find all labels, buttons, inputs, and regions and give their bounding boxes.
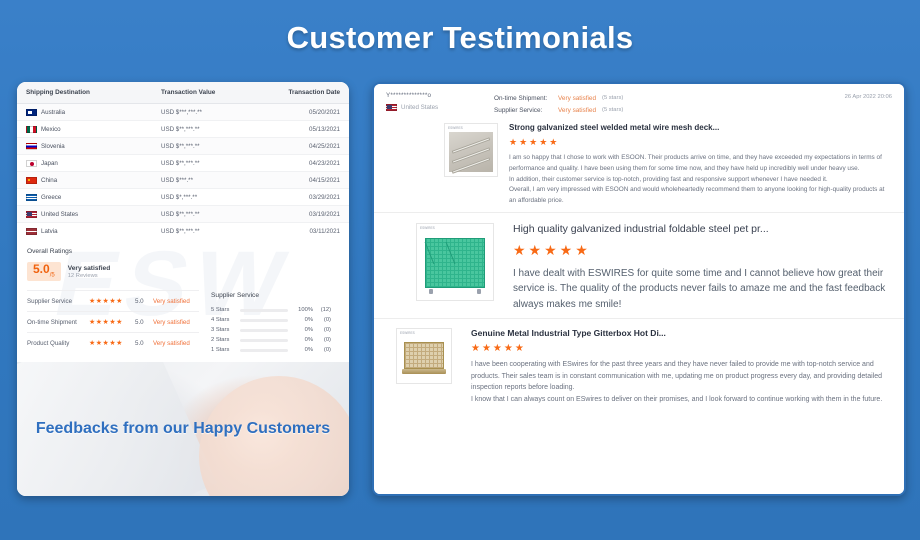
flag-united-states-icon <box>26 211 37 218</box>
review-body: ESWIRES Strong galvanized steel welded m… <box>386 123 892 206</box>
breakdown-count: (0) <box>313 317 331 323</box>
breakdown-percent: 0% <box>293 347 313 353</box>
breakdown-row[interactable]: 5 Stars 100% (12) <box>211 305 331 315</box>
rating-metric-row: Product Quality ★★★★★ 5.0 Very satisfied <box>27 332 199 353</box>
cell-date: 03/19/2021 <box>279 211 340 218</box>
review-stars-icon: ★★★★★ <box>471 343 892 354</box>
table-row[interactable]: China USD $***.** 04/15/2021 <box>17 172 349 189</box>
overall-score-suffix: /5 <box>50 272 55 278</box>
metric-label: Very satisfied <box>153 298 190 305</box>
column-header-destination: Shipping Destination <box>26 89 161 96</box>
cell-destination: United States <box>41 211 78 218</box>
cell-value: USD $***.** <box>161 177 279 184</box>
reviews-panel: Y**************o United States On-time S… <box>372 82 906 496</box>
cell-value: USD $**,***.** <box>161 211 279 218</box>
metric-name: On-time Shipment <box>27 319 89 326</box>
cell-value: USD $**,***.** <box>161 126 279 133</box>
review-stars-icon: ★★★★★ <box>509 137 892 148</box>
metric-name: Product Quality <box>27 340 89 347</box>
flag-greece-icon <box>26 194 37 201</box>
overall-ratings-section: Overall Ratings 5.0/5 Very satisfied 12 … <box>17 240 349 355</box>
cell-destination: Japan <box>41 160 58 167</box>
review-item: Y**************o United States On-time S… <box>374 84 904 212</box>
metric-value: 5.0 <box>135 298 153 305</box>
review-paragraph: I have dealt with ESWIRES for quite some… <box>513 266 892 313</box>
ratings-breakdown: Supplier Service 5 Stars 100% (12) 4 Sta… <box>211 290 331 355</box>
column-header-date: Transaction Date <box>279 89 340 96</box>
review-body: ESWIRES Genuine Metal Industrial Type Gi… <box>386 328 892 405</box>
breakdown-bar <box>240 349 288 352</box>
happy-customers-photo: Feedbacks from our Happy Customers <box>17 362 349 496</box>
review-metric-row: On-time Shipment: Very satisfied (5 star… <box>494 92 845 104</box>
review-metrics: On-time Shipment: Very satisfied (5 star… <box>494 92 845 116</box>
cell-destination: Mexico <box>41 126 61 133</box>
overall-score-label: Very satisfied <box>68 265 111 272</box>
breakdown-label: 3 Stars <box>211 327 235 333</box>
product-title[interactable]: Strong galvanized steel welded metal wir… <box>509 123 892 133</box>
cell-date: 04/23/2021 <box>279 160 340 167</box>
cell-value: USD $***,***.** <box>161 109 279 116</box>
metric-label: On-time Shipment: <box>494 95 558 102</box>
flag-latvia-icon <box>26 228 37 235</box>
ratings-columns: Supplier Service ★★★★★ 5.0 Very satisfie… <box>27 290 339 355</box>
review-text: Genuine Metal Industrial Type Gitterbox … <box>463 328 892 405</box>
metric-label: Very satisfied <box>153 340 190 347</box>
cell-date: 05/13/2021 <box>279 126 340 133</box>
transactions-ratings-panel: ESW Shipping Destination Transaction Val… <box>17 82 349 496</box>
thumbnail-label: ESWIRES <box>448 126 463 130</box>
breakdown-label: 5 Stars <box>211 307 235 313</box>
cell-destination: China <box>41 177 57 184</box>
cell-date: 04/15/2021 <box>279 177 340 184</box>
cell-destination: Slovenia <box>41 143 65 150</box>
breakdown-label: 2 Stars <box>211 337 235 343</box>
review-paragraph: In addition, their customer service is t… <box>509 175 892 186</box>
rating-metric-row: Supplier Service ★★★★★ 5.0 Very satisfie… <box>27 290 199 311</box>
product-thumbnail[interactable]: ESWIRES <box>444 123 498 177</box>
metric-value: 5.0 <box>135 319 153 326</box>
table-row[interactable]: Australia USD $***,***.** 05/20/2021 <box>17 104 349 121</box>
review-item: ESWIRES Genuine Metal Industrial Type Gi… <box>374 318 904 411</box>
product-thumbnail[interactable]: ESWIRES <box>396 328 452 384</box>
metric-value: Very satisfied <box>558 107 596 114</box>
breakdown-title: Supplier Service <box>211 292 331 299</box>
page-title: Customer Testimonials <box>0 20 920 56</box>
review-header: Y**************o United States On-time S… <box>386 92 892 116</box>
breakdown-percent: 0% <box>293 337 313 343</box>
table-row[interactable]: Slovenia USD $**,***.** 04/25/2021 <box>17 138 349 155</box>
table-header-row: Shipping Destination Transaction Value T… <box>17 82 349 104</box>
cell-date: 05/20/2021 <box>279 109 340 116</box>
review-paragraph: I know that I can always count on ESwire… <box>471 394 892 406</box>
metric-detail: (5 stars) <box>602 95 623 101</box>
thumbnail-label: ESWIRES <box>400 331 415 335</box>
flag-china-icon <box>26 177 37 184</box>
cell-date: 04/25/2021 <box>279 143 340 150</box>
thumbnail-label: ESWIRES <box>420 226 435 230</box>
thumbnail-image-cage <box>421 232 489 296</box>
review-date: 26 Apr 2022 20:06 <box>845 92 892 100</box>
rating-metric-row: On-time Shipment ★★★★★ 5.0 Very satisfie… <box>27 311 199 332</box>
column-header-value: Transaction Value <box>161 89 279 96</box>
metric-label: Supplier Service: <box>494 107 558 114</box>
table-row[interactable]: United States USD $**,***.** 03/19/2021 <box>17 206 349 223</box>
cell-destination: Greece <box>41 194 61 201</box>
breakdown-row[interactable]: 3 Stars 0% (0) <box>211 325 331 335</box>
table-row[interactable]: Latvia USD $**,***.** 03/11/2021 <box>17 223 349 240</box>
overall-review-count: 12 Reviews <box>68 273 111 279</box>
breakdown-label: 1 Stars <box>211 347 235 353</box>
cell-destination: Australia <box>41 109 65 116</box>
overall-score-text: Very satisfied 12 Reviews <box>68 265 111 279</box>
product-title[interactable]: Genuine Metal Industrial Type Gitterbox … <box>471 328 892 339</box>
review-paragraphs: I have dealt with ESWIRES for quite some… <box>513 266 892 313</box>
overall-score-row: 5.0/5 Very satisfied 12 Reviews <box>27 262 339 281</box>
review-paragraph: I am so happy that I chose to work with … <box>509 153 892 174</box>
flag-japan-icon <box>26 160 37 167</box>
metric-name: Supplier Service <box>27 298 89 305</box>
breakdown-row[interactable]: 4 Stars 0% (0) <box>211 315 331 325</box>
reviewer-name: Y**************o <box>386 92 494 99</box>
review-text: Strong galvanized steel welded metal wir… <box>509 123 892 206</box>
hero-caption: Feedbacks from our Happy Customers <box>17 420 349 438</box>
thumbnail-image-deck <box>449 132 493 172</box>
ratings-section-title: Overall Ratings <box>27 248 339 255</box>
metric-value: Very satisfied <box>558 95 596 102</box>
review-item: ESWIRES High quality galvanized industri… <box>374 212 904 318</box>
thumbnail-image-gitterbox <box>401 337 447 379</box>
metric-stars-icon: ★★★★★ <box>89 297 135 305</box>
flag-australia-icon <box>26 109 37 116</box>
review-text: High quality galvanized industrial folda… <box>505 223 892 312</box>
review-paragraphs: I have been cooperating with ESwires for… <box>471 359 892 405</box>
breakdown-bar <box>240 309 288 312</box>
breakdown-row[interactable]: 1 Stars 0% (0) <box>211 345 331 355</box>
flag-united-states-icon <box>386 104 397 111</box>
reviewer-country: United States <box>401 104 438 111</box>
metric-label: Very satisfied <box>153 319 190 326</box>
review-body: ESWIRES High quality galvanized industri… <box>386 223 892 312</box>
review-paragraph: I have been cooperating with ESwires for… <box>471 359 892 394</box>
breakdown-count: (0) <box>313 337 331 343</box>
cell-value: USD $*,***.** <box>161 194 279 201</box>
testimonials-page: Customer Testimonials ESW Shipping Desti… <box>0 0 920 540</box>
cell-value: USD $**,***.** <box>161 228 279 235</box>
cell-value: USD $**,***.** <box>161 143 279 150</box>
cell-date: 03/11/2021 <box>279 228 340 235</box>
breakdown-count: (0) <box>313 347 331 353</box>
breakdown-bar <box>240 319 288 322</box>
breakdown-bar <box>240 339 288 342</box>
product-thumbnail[interactable]: ESWIRES <box>416 223 494 301</box>
metric-stars-icon: ★★★★★ <box>89 339 135 347</box>
breakdown-percent: 0% <box>293 317 313 323</box>
cell-destination: Latvia <box>41 228 58 235</box>
flag-mexico-icon <box>26 126 37 133</box>
review-paragraph: Overall, I am very impressed with ESOON … <box>509 185 892 206</box>
review-stars-icon: ★★★★★ <box>513 242 892 259</box>
breakdown-label: 4 Stars <box>211 317 235 323</box>
breakdown-count: (12) <box>313 307 331 313</box>
review-metric-row: Supplier Service: Very satisfied (5 star… <box>494 104 845 116</box>
transactions-table: Shipping Destination Transaction Value T… <box>17 82 349 240</box>
metric-detail: (5 stars) <box>602 107 623 113</box>
product-title[interactable]: High quality galvanized industrial folda… <box>513 223 892 237</box>
breakdown-row[interactable]: 2 Stars 0% (0) <box>211 335 331 345</box>
review-paragraphs: I am so happy that I chose to work with … <box>509 153 892 206</box>
table-row[interactable]: Greece USD $*,***.** 03/29/2021 <box>17 189 349 206</box>
flag-slovenia-icon <box>26 143 37 150</box>
metric-value: 5.0 <box>135 340 153 347</box>
cell-date: 03/29/2021 <box>279 194 340 201</box>
table-row[interactable]: Mexico USD $**,***.** 05/13/2021 <box>17 121 349 138</box>
overall-score-value: 5.0 <box>33 262 50 276</box>
table-row[interactable]: Japan USD $**,***.** 04/23/2021 <box>17 155 349 172</box>
breakdown-count: (0) <box>313 327 331 333</box>
ratings-metric-list: Supplier Service ★★★★★ 5.0 Very satisfie… <box>27 290 199 355</box>
overall-score-badge: 5.0/5 <box>27 262 61 281</box>
breakdown-percent: 0% <box>293 327 313 333</box>
metric-stars-icon: ★★★★★ <box>89 318 135 326</box>
breakdown-percent: 100% <box>293 307 313 313</box>
breakdown-bar <box>240 329 288 332</box>
cell-value: USD $**,***.** <box>161 160 279 167</box>
reviewer-info: Y**************o United States <box>386 92 494 111</box>
